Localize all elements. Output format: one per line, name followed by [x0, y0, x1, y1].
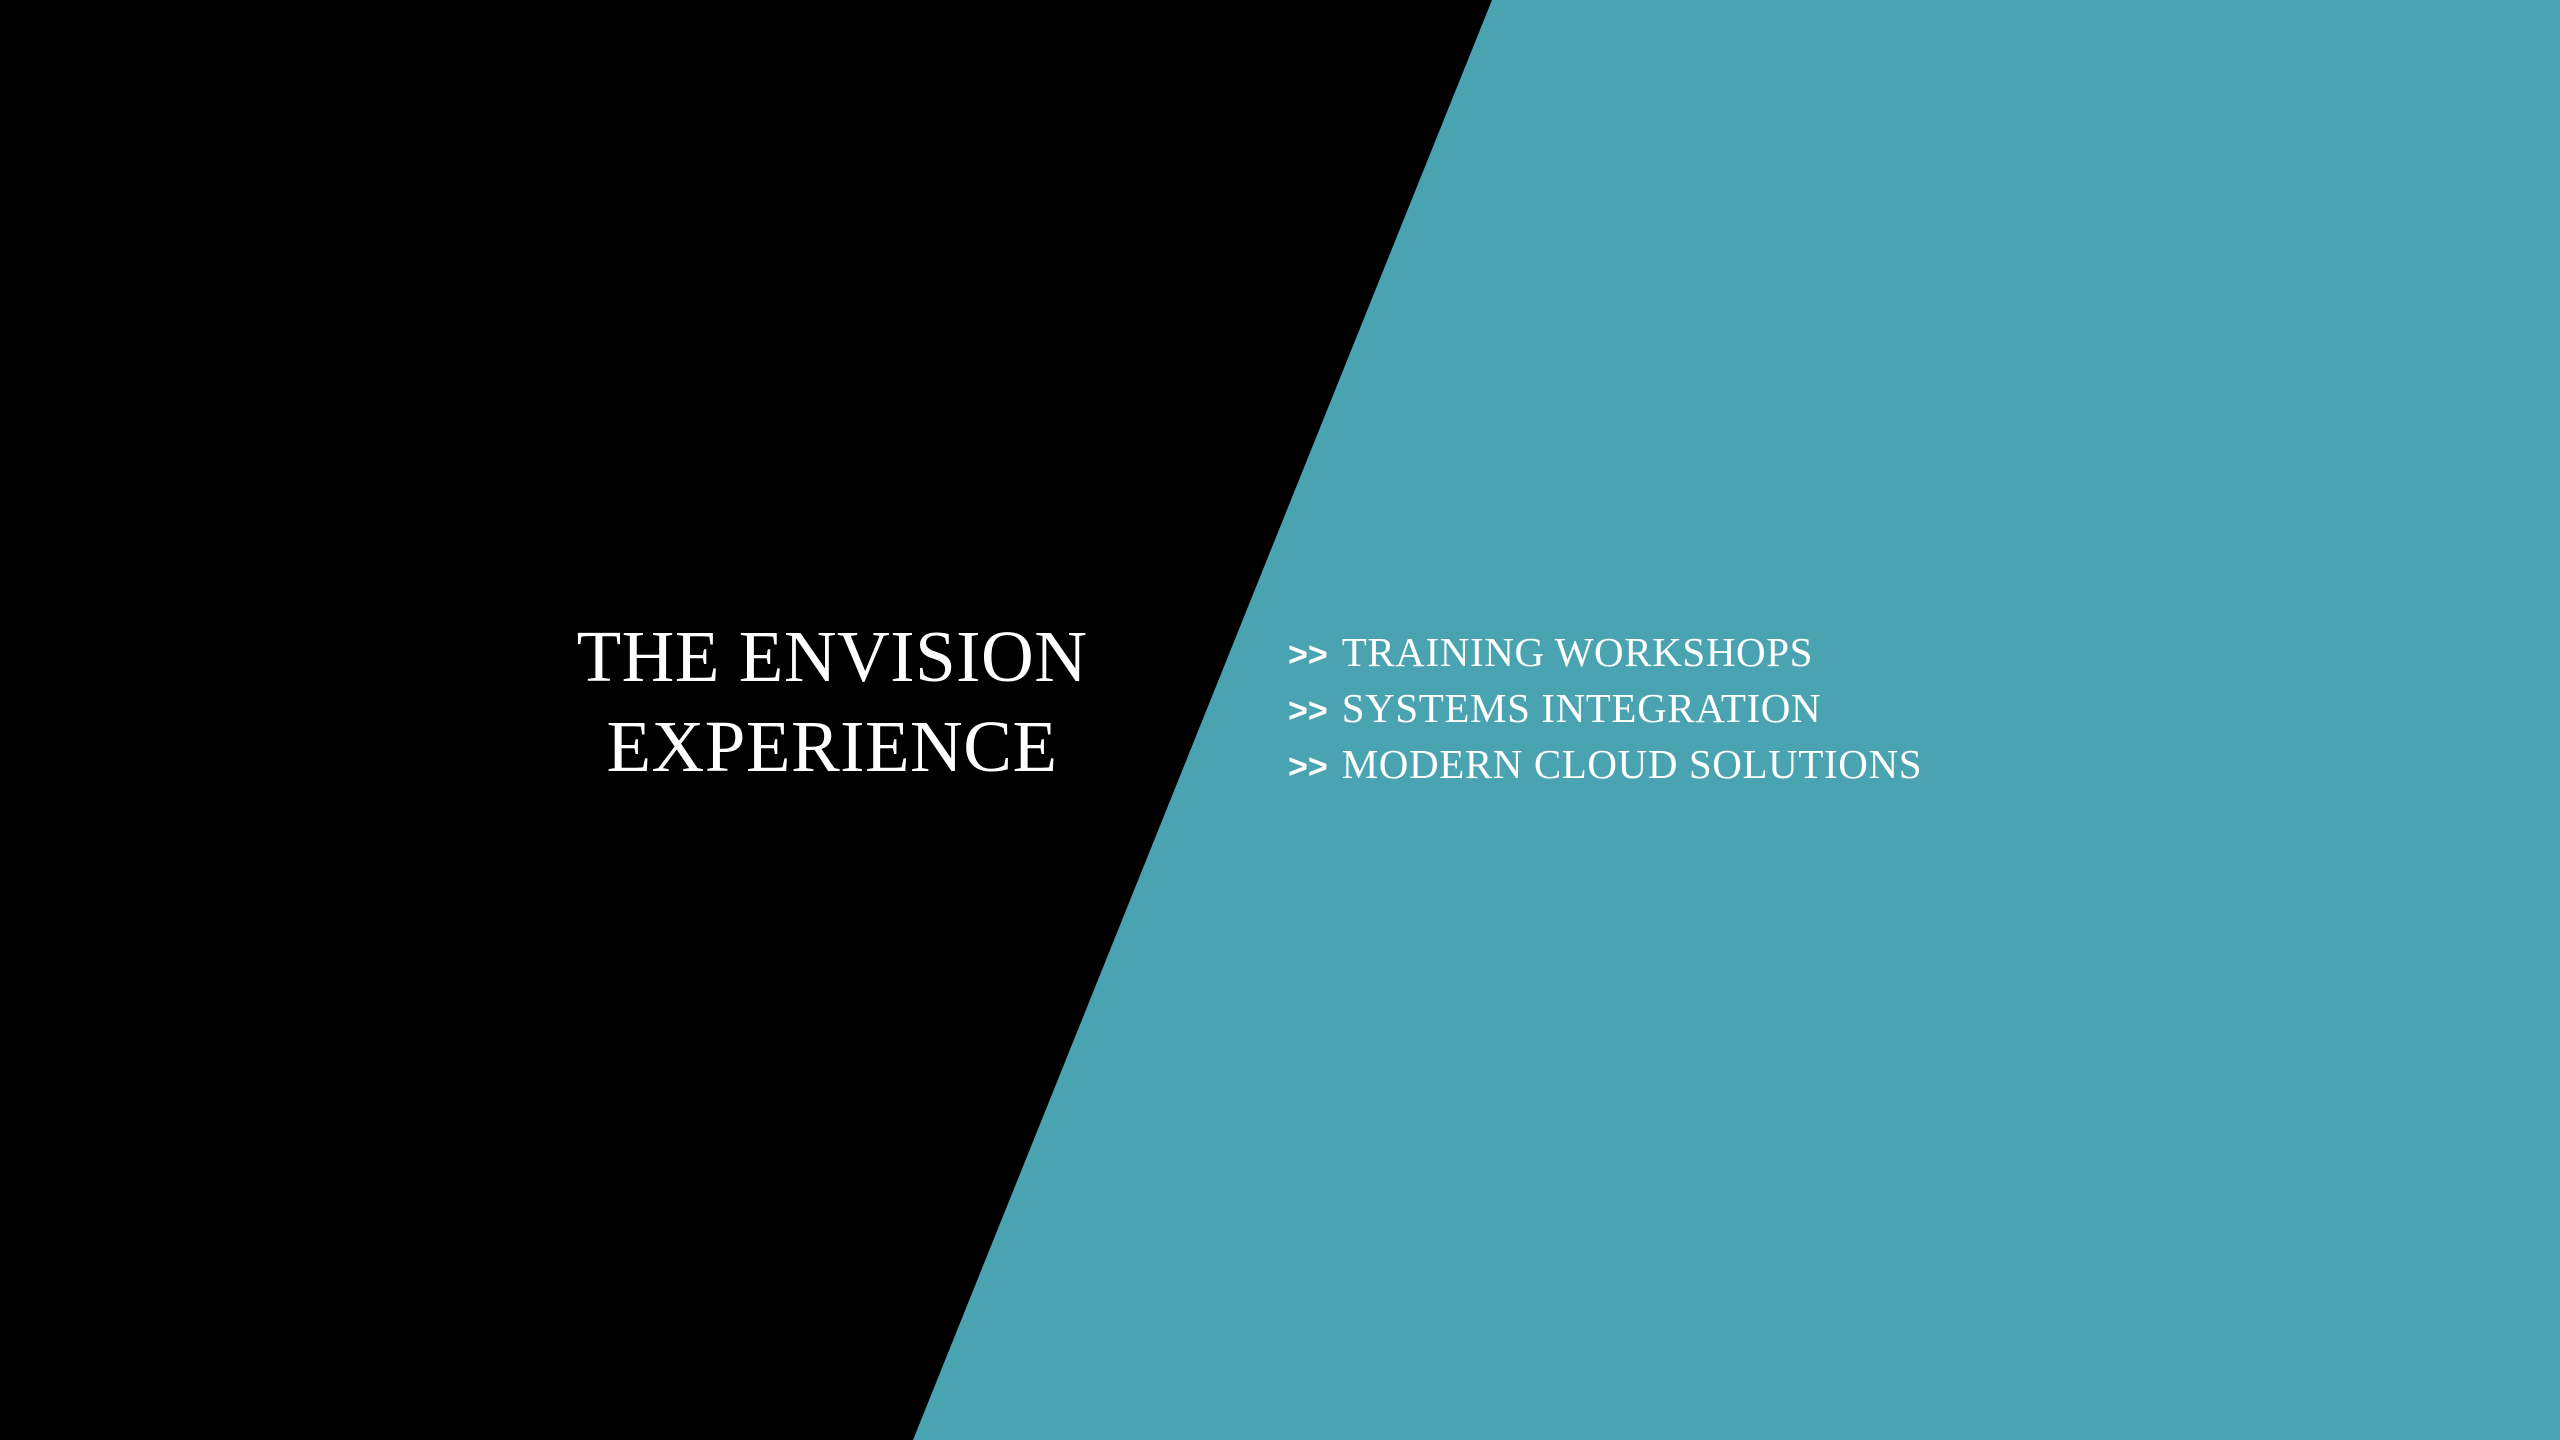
list-item-label: MODERN CLOUD SOLUTIONS	[1342, 742, 1922, 786]
list-item-label: TRAINING WORKSHOPS	[1342, 630, 1813, 674]
title-line-2: EXPERIENCE	[432, 702, 1232, 792]
list-item: >> SYSTEMS INTEGRATION	[1288, 686, 1922, 742]
service-bullet-list: >> TRAINING WORKSHOPS >> SYSTEMS INTEGRA…	[1288, 630, 1922, 798]
slide-canvas: THE ENVISION EXPERIENCE >> TRAINING WORK…	[0, 0, 2560, 1440]
chevron-double-right-icon: >>	[1288, 635, 1328, 675]
list-item-label: SYSTEMS INTEGRATION	[1342, 686, 1822, 730]
chevron-double-right-icon: >>	[1288, 747, 1328, 787]
page-title: THE ENVISION EXPERIENCE	[432, 612, 1232, 792]
chevron-double-right-icon: >>	[1288, 691, 1328, 731]
list-item: >> MODERN CLOUD SOLUTIONS	[1288, 742, 1922, 798]
title-line-1: THE ENVISION	[432, 612, 1232, 702]
list-item: >> TRAINING WORKSHOPS	[1288, 630, 1922, 686]
